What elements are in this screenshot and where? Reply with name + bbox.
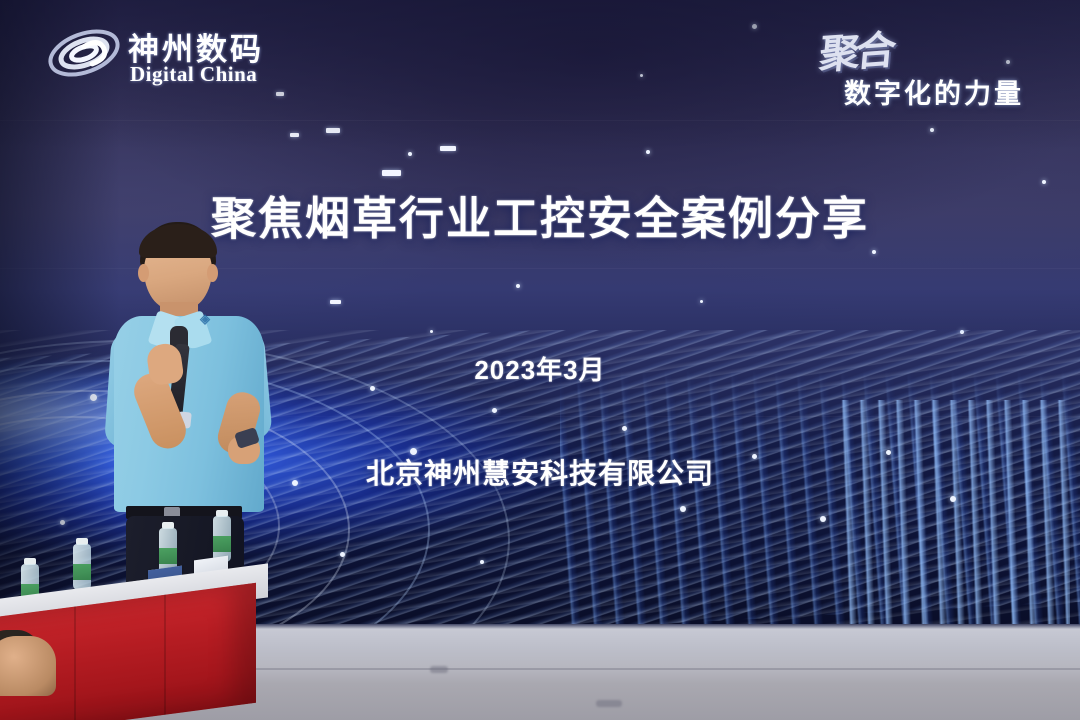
light-particle [440,146,456,151]
bokeh-dot [60,520,65,525]
light-particle [930,128,934,132]
floor-mark [596,700,622,707]
speaker-ear [207,264,218,282]
bottle-label [73,564,91,580]
digital-china-logo: 神州数码 Digital China [46,22,306,88]
foreground-attendee [0,636,56,696]
light-particle [382,170,401,176]
water-bottle [72,538,92,592]
event-logo: 聚合 数字化的力量 [812,20,1062,112]
bokeh-dot [492,408,497,413]
bottle-label [159,548,177,564]
speaker-ear [138,264,149,282]
bottle-label [213,536,231,552]
bokeh-dot [622,426,627,431]
bokeh-dot [340,552,345,557]
conference-photo: 聚焦烟草行业工控安全案例分享 2023年3月 北京神州慧安科技有限公司 神州数码… [0,0,1080,720]
light-particle [752,24,757,29]
light-particle [700,300,703,303]
spiral-swirl-icon [46,22,122,84]
light-particle [408,152,412,156]
light-particle [646,150,650,154]
event-subtitle: 数字化的力量 [844,72,1024,111]
light-particle [326,128,340,133]
light-particle [276,92,284,96]
light-particle [516,284,520,288]
bokeh-dot [950,496,956,502]
bokeh-dot [820,516,826,522]
screen-panel-seam [0,120,1080,121]
wave-cascade-bright [840,400,1070,628]
bokeh-dot [680,506,686,512]
skirt-fold [164,595,166,715]
skirt-fold [74,606,76,720]
light-particle [290,133,299,137]
logo-english-text: Digital China [130,62,257,87]
light-particle [872,250,876,254]
light-particle [330,300,341,304]
bokeh-dot [480,560,484,564]
light-particle [640,74,643,77]
event-brush-text: 聚合 [817,18,895,81]
shirt-logo-icon: ◈ [192,308,218,330]
speaker-hair-top [139,224,217,258]
floor-mark [430,666,448,673]
